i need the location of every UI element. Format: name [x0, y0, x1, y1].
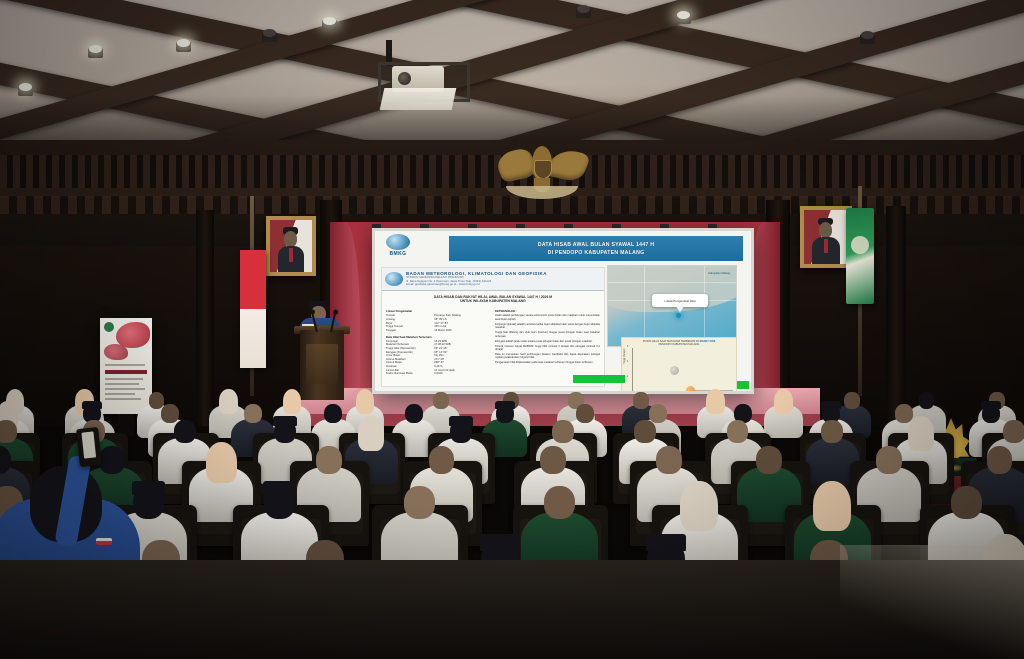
chart-title-line-2: PENDOPO KABUPATEN MALANG: [626, 343, 732, 346]
audience-head: [429, 446, 455, 474]
hijab: [908, 416, 934, 451]
chart-title: POSISI HILAL SAAT MATAHARI TERBENAM 19 M…: [622, 338, 736, 346]
data-row-key: Tanggal: [386, 329, 434, 333]
pillar: [196, 210, 214, 426]
map-gridline: [644, 266, 645, 346]
peci-cap: [981, 401, 1001, 409]
poster-standee: [100, 318, 152, 414]
audience-head: [244, 404, 262, 423]
hisab-document: BADAN METEOROLOGI, KLIMATOLOGI DAN GEOFI…: [381, 267, 605, 387]
hijab: [358, 416, 384, 451]
ceiling-spotlight-icon: [576, 8, 591, 18]
audience-head: [633, 392, 649, 409]
peci-cap: [449, 416, 473, 426]
poster-logo-icon: [104, 322, 114, 332]
audience-head: [540, 446, 566, 474]
right-column-heading: KETERANGAN :: [495, 309, 600, 313]
audience-head: [844, 392, 860, 409]
peci-cap: [495, 401, 515, 409]
audience-head: [174, 420, 196, 443]
map-gridline: [608, 282, 736, 283]
bmkg-logo-text: BMKG: [381, 251, 415, 257]
audience-head: [756, 446, 782, 474]
portrait-presiden: [266, 216, 316, 276]
peci-cap: [82, 401, 102, 409]
slide-content: BMKG DATA HISAB AWAL BULAN SYAWAL 1447 H…: [375, 231, 751, 391]
data-row-value: 0,0029: [434, 372, 491, 376]
projector-tray: [380, 88, 457, 110]
audience-head: [919, 392, 935, 409]
peci-cap: [821, 401, 841, 409]
document-right-column: KETERANGAN : Hisab adalah perhitungan se…: [495, 307, 600, 376]
ceiling-spotlight-icon: [676, 14, 691, 24]
garuda-pancasila-emblem-icon: [498, 144, 586, 206]
pillar: [886, 206, 906, 426]
flag-merah-putih: [240, 250, 266, 368]
audience-head: [324, 404, 342, 423]
document-subtitle: DATA HISAB DAN RUKYAT HILAL AWAL BULAN S…: [382, 291, 604, 307]
document-subtitle-line-2: UNTUK WILAYAH KABUPATEN MALANG: [396, 299, 590, 303]
hijab: [219, 389, 238, 414]
ceiling-spotlight-icon: [322, 20, 337, 30]
audience-head: [576, 404, 594, 423]
chart-y-axis-label: Tinggi (derajat): [624, 349, 626, 364]
document-data-row: Fraksi Illuminasi Bulan0,0029: [386, 372, 491, 376]
hijab: [774, 389, 793, 414]
audience-head: [149, 392, 165, 409]
peci-cap: [132, 481, 165, 496]
portrait-wakil-presiden: [800, 206, 852, 268]
location-map[interactable]: Kabupaten Malang Lokasi Pengamatan Hilal: [607, 265, 737, 347]
ceiling: [0, 0, 1024, 150]
audience-head: [987, 446, 1013, 474]
letterhead-line-3: Email: geofisika.pasuruan@bmkg.go.id - w…: [406, 283, 601, 287]
document-left-column: Lokasi Pengamatan TempatPendopo Kab. Mal…: [386, 307, 491, 376]
peci-cap: [480, 534, 520, 552]
document-paragraph: Data ini merupakan hasil perhitungan Sta…: [495, 353, 600, 360]
chart-plot-area: Tinggi (derajat) 6 4 2 0 265° 270° 275°: [632, 348, 732, 391]
chart-y-tick: 4: [627, 361, 628, 363]
floor-light-reflection: [840, 545, 1024, 659]
data-row-value: 19 Maret 2026: [434, 329, 491, 333]
audience-head: [544, 486, 575, 519]
ceiling-spotlight-icon: [18, 86, 33, 96]
pendopo-hall-scene: BMKG DATA HISAB AWAL BULAN SYAWAL 1447 H…: [0, 0, 1024, 659]
bmkg-logo-icon: [385, 272, 403, 286]
audience-head: [316, 446, 342, 474]
podium-front-panel: [306, 344, 338, 384]
hijab: [206, 442, 237, 483]
jacket-cuff: [96, 538, 112, 545]
map-region-label: Kabupaten Malang: [708, 272, 730, 275]
document-paragraph: Konjungsi (ijtimak) adalah peristiwa ket…: [495, 323, 600, 330]
slide-title-banner: DATA HISAB AWAL BULAN SYAWAL 1447 H DI P…: [449, 236, 743, 261]
slide-accent-bar-left: [573, 375, 625, 383]
audience-head: [821, 420, 843, 443]
audience-head: [404, 486, 435, 519]
document-paragraph: Pengamatan hilal dilaksanakan pada saat …: [495, 361, 600, 364]
document-paragraph: Tinggi hilal dihitung dari ufuk mar'i (h…: [495, 331, 600, 338]
ceiling-spotlight-icon: [262, 32, 277, 42]
bmkg-globe-icon: [386, 234, 410, 250]
hijab: [283, 389, 302, 414]
document-paragraph: Elongasi adalah jarak sudut antara pusat…: [495, 340, 600, 343]
audience-head: [656, 446, 682, 474]
map-location-marker-icon: [676, 313, 681, 318]
peci-cap: [273, 416, 297, 426]
audience-head: [727, 420, 749, 443]
peci-cap: [263, 481, 296, 496]
audience-head: [876, 446, 902, 474]
document-paragraph: Hisab adalah perhitungan secara astronom…: [495, 314, 600, 321]
ceiling-spotlight-icon: [176, 42, 191, 52]
chart-y-tick: 2: [627, 376, 628, 378]
peci-cap: [646, 534, 686, 552]
slide-title-line-1: DATA HISAB AWAL BULAN SYAWAL 1447 H: [538, 241, 654, 249]
hijab: [680, 481, 717, 531]
chart-moon-marker-icon: [670, 366, 679, 375]
audience-head: [99, 446, 125, 474]
slide-title-line-2: DI PENDOPO KABUPATEN MALANG: [548, 249, 645, 257]
audience-head: [1003, 420, 1024, 443]
poster-title-bar: [105, 370, 147, 374]
document-letterhead: BADAN METEOROLOGI, KLIMATOLOGI DAN GEOFI…: [382, 268, 604, 291]
ceiling-spotlight-icon: [88, 48, 103, 58]
data-row-key: Fraksi Illuminasi Bulan: [386, 372, 434, 376]
smartphone-recording: [76, 427, 102, 467]
hijab: [356, 389, 375, 414]
ceiling-spotlight-icon: [860, 34, 875, 44]
document-paragraph: Kriteria imkanur rukyat MABIMS: tinggi h…: [495, 345, 600, 352]
slide-accent-bar-right: [737, 381, 749, 389]
audience-head: [405, 404, 423, 423]
projection-screen[interactable]: BMKG DATA HISAB AWAL BULAN SYAWAL 1447 H…: [372, 228, 754, 394]
audience-head: [0, 420, 17, 443]
left-column-heading: Lokasi Pengamatan: [386, 309, 491, 313]
bmkg-logo: BMKG: [381, 234, 415, 264]
projector-lens-icon: [398, 72, 411, 85]
document-data-row: Tanggal19 Maret 2026: [386, 329, 491, 333]
poster-graphic-secondary: [104, 344, 128, 360]
chart-sun-marker-icon: [686, 386, 695, 391]
left-column-heading-2: Data Hilal Saat Matahari Terbenam: [386, 335, 491, 339]
audience-head: [552, 420, 574, 443]
hijab: [706, 389, 725, 414]
chart-y-tick: 6: [627, 346, 628, 348]
audience-head: [433, 392, 449, 409]
audience-head: [161, 404, 179, 423]
audience-head: [649, 404, 667, 423]
hilal-position-chart: POSISI HILAL SAAT MATAHARI TERBENAM 19 M…: [621, 337, 737, 391]
flag-ceremonial-green: [846, 208, 874, 304]
hijab: [813, 481, 850, 531]
audience-head: [634, 420, 656, 443]
map-pin-callout[interactable]: Lokasi Pengamatan Hilal: [652, 294, 708, 307]
audience-head: [951, 486, 982, 519]
